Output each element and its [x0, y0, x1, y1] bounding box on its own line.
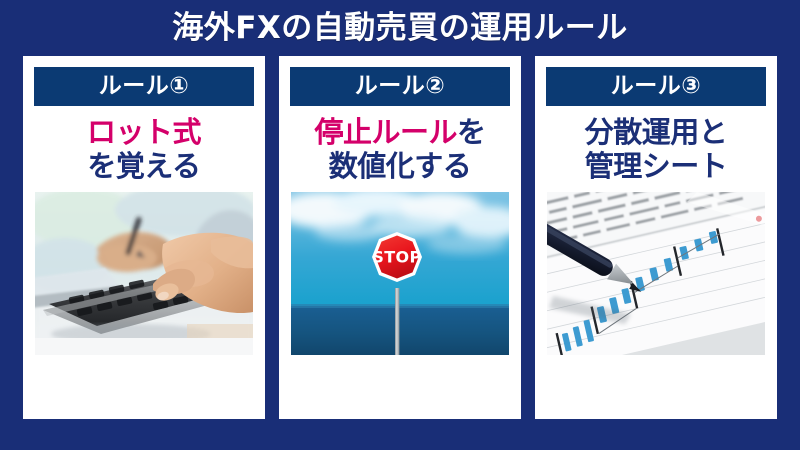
- stop-sign-text: STOP: [372, 248, 421, 267]
- rule-headline-2-line1: 停止ルールを: [314, 115, 485, 149]
- rule-badge-label-3: ルール③: [611, 75, 701, 98]
- rule-headline-1: ロット式 を覚える: [87, 115, 201, 183]
- rule-card-3[interactable]: ルール③ 分散運用と 管理シート: [535, 56, 777, 419]
- rules-card-row: ルール① ロット式 を覚える: [0, 56, 800, 450]
- gantt-chart-pen-photo: [547, 192, 765, 355]
- rule-headline-1-line2: を覚える: [87, 149, 201, 183]
- rule-headline-2-line1-accent: 停止ルール: [314, 115, 457, 149]
- rule-headline-2: 停止ルールを 数値化する: [314, 115, 485, 183]
- rule-badge-3: ルール③: [546, 67, 766, 106]
- rule-headline-2-line1-navy: を: [457, 115, 486, 149]
- rule-headline-2-line2: 数値化する: [314, 149, 485, 183]
- rule-badge-1: ルール①: [34, 67, 254, 106]
- title-bar: 海外FXの自動売買の運用ルール: [0, 0, 800, 56]
- rule-card-1[interactable]: ルール① ロット式 を覚える: [23, 56, 265, 419]
- rule-headline-1-line1: ロット式: [87, 115, 201, 149]
- rule-badge-label-2: ルール②: [355, 75, 445, 98]
- slide-canvas: 海外FXの自動売買の運用ルール ルール① ロット式 を覚える: [0, 0, 800, 450]
- rule-headline-3: 分散運用と 管理シート: [585, 115, 728, 183]
- page-title: 海外FXの自動売買の運用ルール: [172, 13, 628, 44]
- rule-headline-3-line1: 分散運用と: [585, 115, 728, 149]
- rule-headline-3-line2: 管理シート: [585, 149, 728, 183]
- stop-sign-photo: STOP: [291, 192, 509, 355]
- rule-badge-2: ルール②: [290, 67, 510, 106]
- calculator-hand-photo: [35, 192, 253, 355]
- rule-badge-label-1: ルール①: [99, 75, 189, 98]
- rule-card-2[interactable]: ルール② 停止ルールを 数値化する: [279, 56, 521, 419]
